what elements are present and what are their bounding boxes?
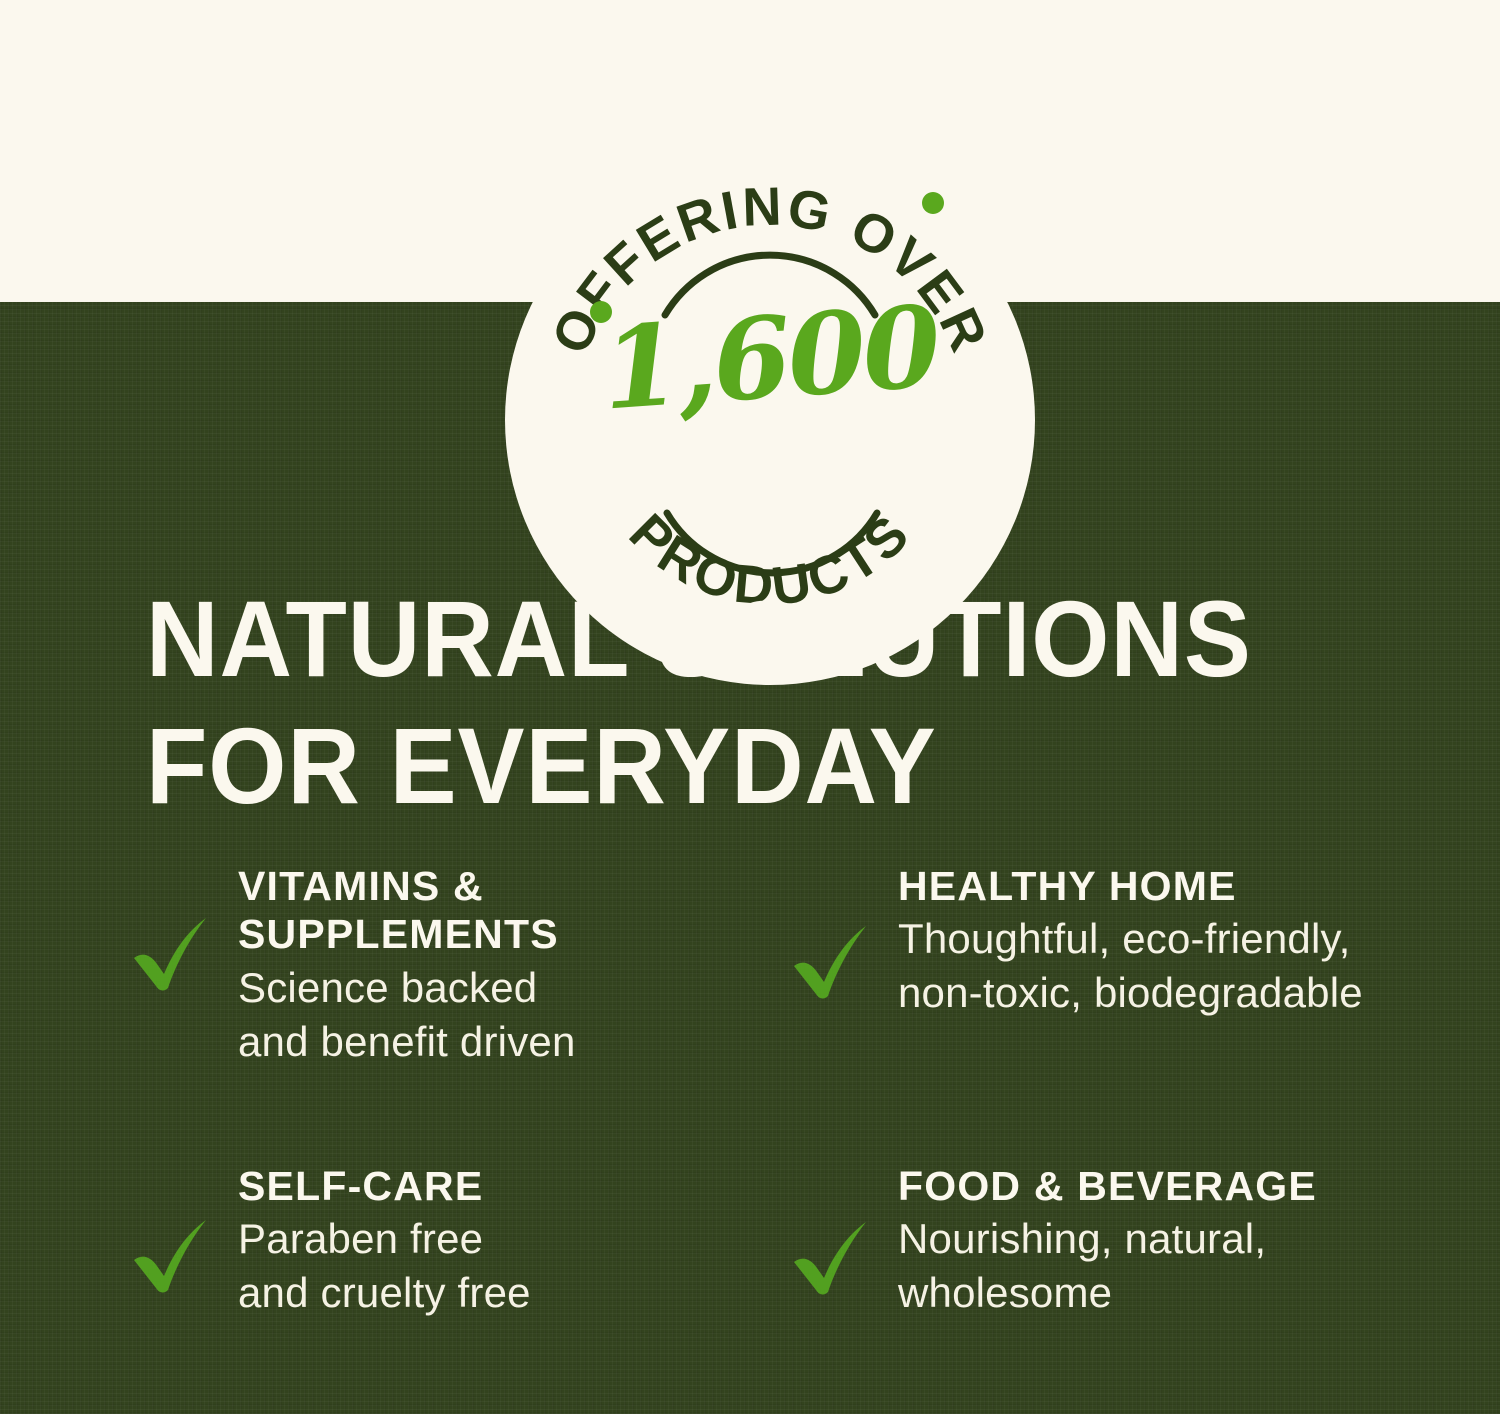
- badge-dot-left: [922, 192, 944, 214]
- feature-description: Thoughtful, eco-friendly, non-toxic, bio…: [898, 912, 1475, 1020]
- feature-title: SELF-CARE: [238, 1162, 790, 1210]
- check-icon: [790, 1218, 882, 1296]
- feature-description: Science backed and benefit driven: [238, 961, 790, 1069]
- promo-poster: OFFERING OVER PRODUCTS 1,600 NATURAL SOL…: [0, 0, 1500, 1414]
- feature-healthy-home: HEALTHY HOME Thoughtful, eco-friendly, n…: [790, 862, 1475, 1162]
- feature-vitamins-supplements: VITAMINS & SUPPLEMENTS Science backed an…: [130, 862, 790, 1162]
- feature-title: FOOD & BEVERAGE: [898, 1162, 1475, 1210]
- feature-text: FOOD & BEVERAGE Nourishing, natural, who…: [898, 1162, 1475, 1320]
- feature-title: HEALTHY HOME: [898, 862, 1475, 910]
- feature-description: Nourishing, natural, wholesome: [898, 1212, 1475, 1320]
- feature-self-care: SELF-CARE Paraben free and cruelty free: [130, 1162, 790, 1362]
- feature-text: VITAMINS & SUPPLEMENTS Science backed an…: [238, 862, 790, 1068]
- feature-description: Paraben free and cruelty free: [238, 1212, 790, 1320]
- page-title: NATURAL SOLUTIONS FOR EVERYDAY: [146, 575, 1355, 830]
- feature-title: VITAMINS & SUPPLEMENTS: [238, 862, 790, 959]
- check-icon: [790, 922, 882, 1000]
- check-icon: [130, 914, 222, 992]
- feature-grid: VITAMINS & SUPPLEMENTS Science backed an…: [130, 862, 1475, 1362]
- check-icon: [130, 1216, 222, 1294]
- feature-food-beverage: FOOD & BEVERAGE Nourishing, natural, who…: [790, 1162, 1475, 1362]
- feature-text: HEALTHY HOME Thoughtful, eco-friendly, n…: [898, 862, 1475, 1020]
- feature-text: SELF-CARE Paraben free and cruelty free: [238, 1162, 790, 1320]
